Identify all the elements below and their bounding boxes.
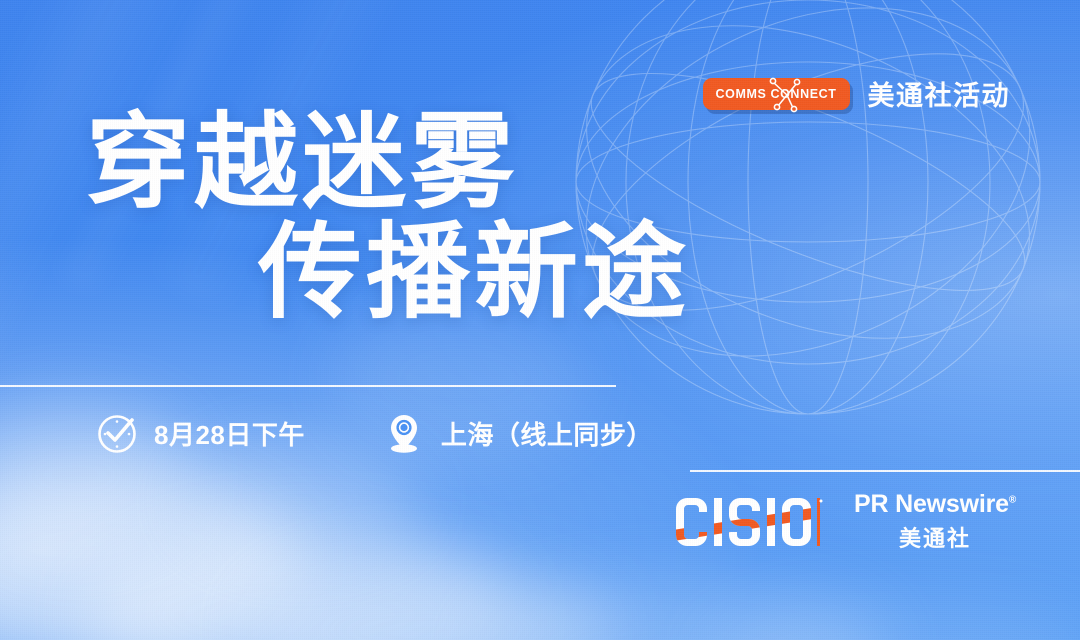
cloud-blob <box>470 580 890 640</box>
clock-check-icon <box>94 410 140 456</box>
event-meta-row: 8月28日下午 上海（线上同步） <box>94 410 653 456</box>
event-location-text: 上海（线上同步） <box>441 415 653 452</box>
pr-newswire-en-text: PR Newswire <box>854 490 1009 518</box>
event-date-text: 8月28日下午 <box>154 415 305 452</box>
cloud-blob <box>250 560 610 640</box>
comms-connect-badge[interactable]: COMMS CONNECT <box>703 78 850 110</box>
headline-line-2: 传播新途 <box>258 218 760 328</box>
network-nodes-icon <box>760 75 802 113</box>
svg-text:CISION: CISION <box>674 496 702 498</box>
cision-logo: CISION <box>674 496 824 548</box>
headline-block: 穿越迷雾 传播新途 <box>0 108 760 328</box>
pr-newswire-en-label: PR Newswire® <box>854 490 1016 519</box>
cloud-blob <box>0 470 300 640</box>
divider-right <box>690 470 1080 472</box>
divider-left <box>0 385 616 387</box>
footer-logos: CISION PR Newswire® 美通社 <box>674 490 1016 553</box>
pr-newswire-logo: PR Newswire® 美通社 <box>854 490 1016 553</box>
event-banner: COMMS CONNECT 美通社活动 穿越迷雾 传播新途 <box>0 0 1080 640</box>
cloud-blob <box>180 440 420 560</box>
event-location-item: 上海（线上同步） <box>381 410 653 456</box>
cloud-blob <box>700 600 1080 640</box>
cloud-blob <box>90 530 510 640</box>
registered-mark-icon: ® <box>1009 495 1016 506</box>
brand-label: 美通社活动 <box>868 74 1011 113</box>
location-pin-icon <box>381 410 427 456</box>
pr-newswire-cn-label: 美通社 <box>899 521 971 553</box>
event-date-item: 8月28日下午 <box>94 410 305 456</box>
headline-line-1: 穿越迷雾 <box>86 108 760 218</box>
